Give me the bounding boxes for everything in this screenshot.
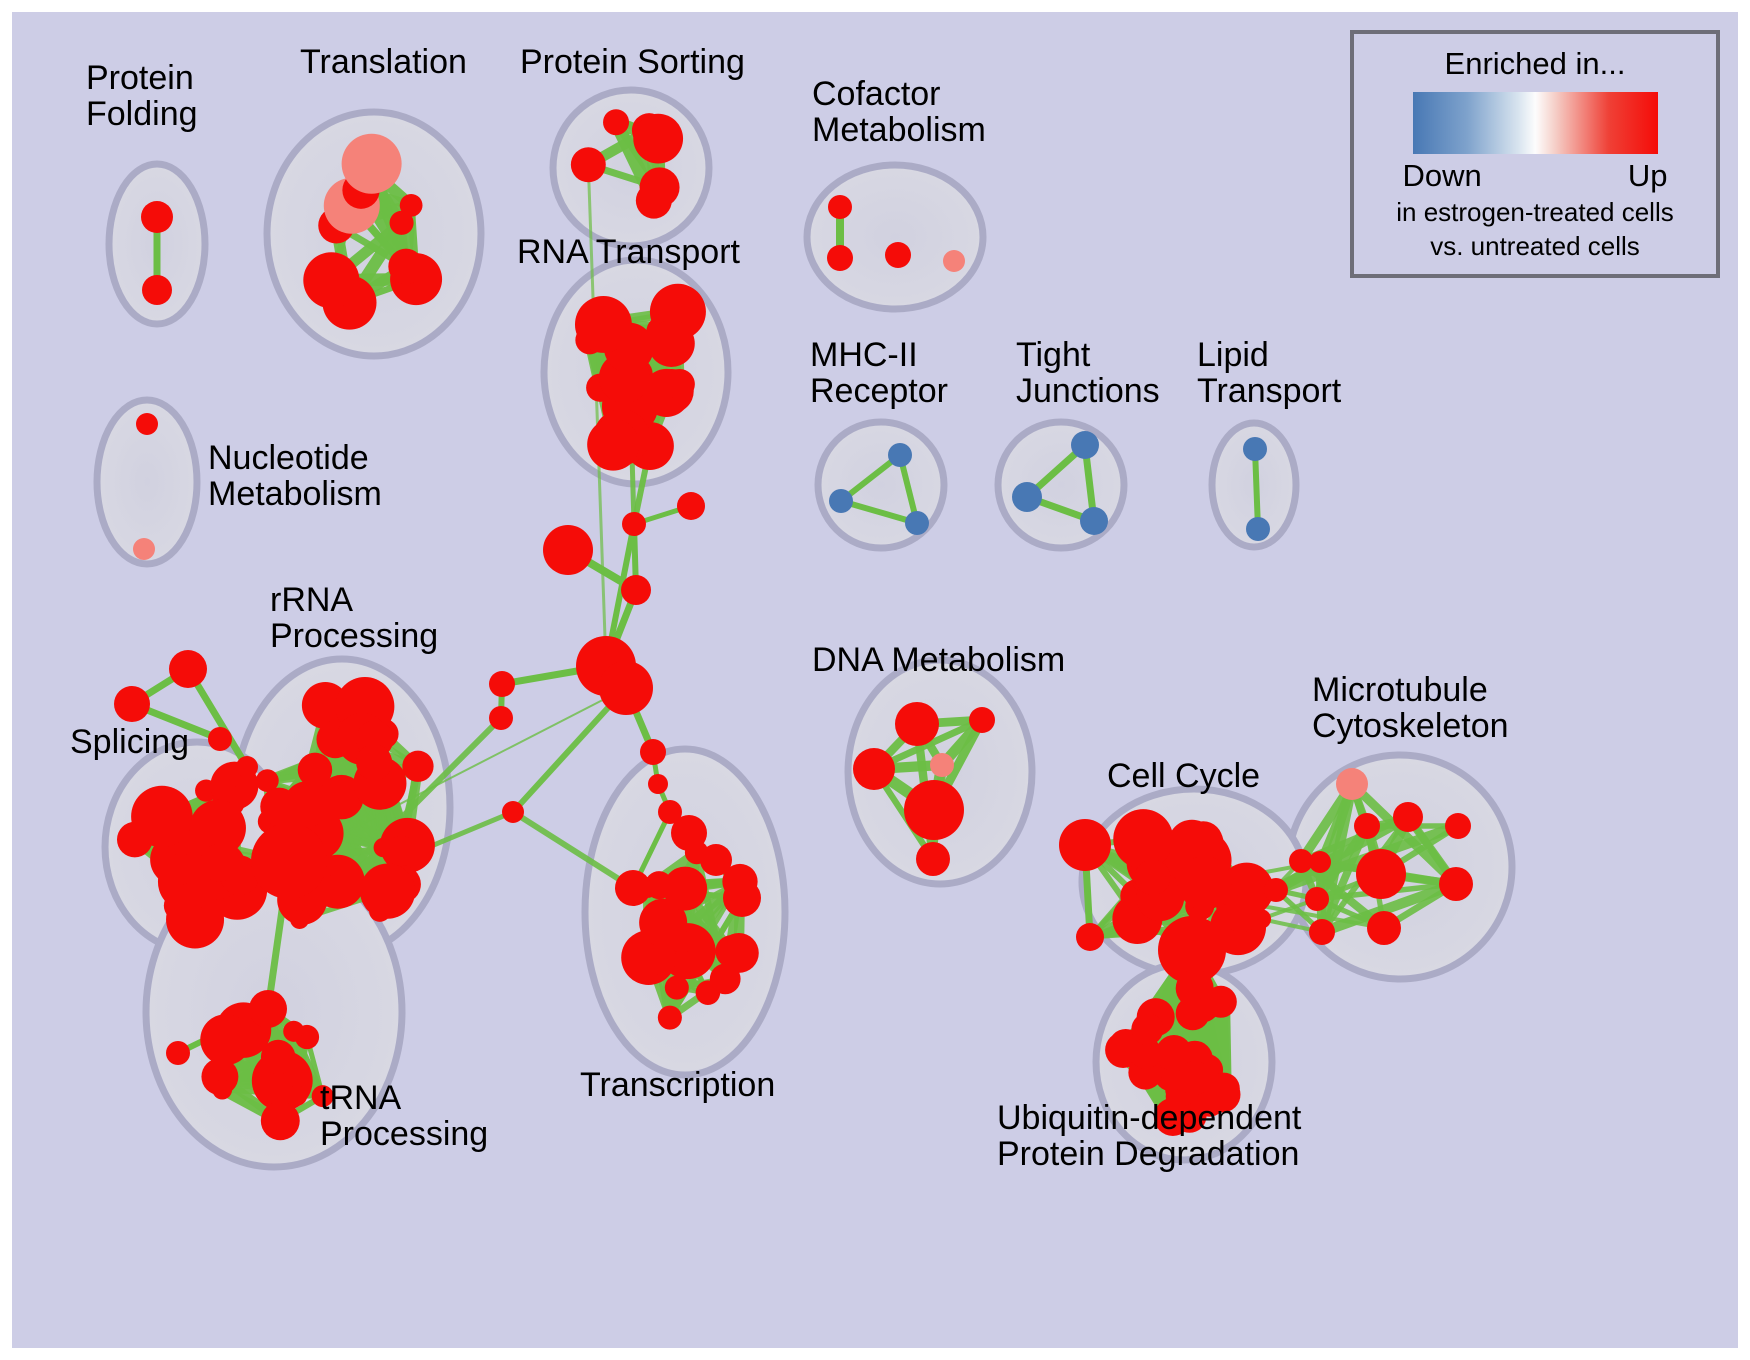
network-node[interactable] (664, 369, 695, 400)
network-node[interactable] (1217, 884, 1238, 905)
network-node[interactable] (723, 879, 761, 917)
cluster-label-protein-folding: Protein Folding (86, 60, 198, 132)
cluster-label-transcription: Transcription (580, 1067, 775, 1103)
network-node[interactable] (212, 1080, 232, 1100)
cluster-label-lipid-transport: Lipid Transport (1197, 337, 1341, 409)
network-node[interactable] (386, 836, 416, 866)
network-node[interactable] (885, 242, 911, 268)
cluster-label-translation: Translation (300, 44, 467, 80)
network-node[interactable] (169, 650, 207, 688)
cluster-label-splicing: Splicing (70, 724, 189, 760)
network-node[interactable] (388, 249, 423, 284)
network-node[interactable] (1080, 507, 1108, 535)
legend-box: Enriched in... Down Up in estrogen-treat… (1350, 30, 1720, 278)
network-node[interactable] (261, 1040, 295, 1074)
figure-root: Protein FoldingTranslationProtein Sortin… (0, 0, 1750, 1360)
cluster-label-nucleotide-metabolism: Nucleotide Metabolism (208, 440, 382, 512)
network-node[interactable] (648, 320, 695, 367)
network-node[interactable] (1393, 802, 1423, 832)
legend-up-label: Up (1628, 158, 1668, 194)
network-node[interactable] (342, 134, 402, 194)
cluster-label-rna-transport: RNA Transport (517, 234, 740, 270)
network-node[interactable] (1309, 919, 1335, 945)
network-node[interactable] (1131, 1013, 1163, 1045)
network-node[interactable] (1071, 431, 1099, 459)
network-node[interactable] (671, 815, 707, 851)
network-node[interactable] (303, 252, 359, 308)
network-node[interactable] (930, 753, 954, 777)
network-node[interactable] (1336, 768, 1368, 800)
network-node[interactable] (1012, 482, 1042, 512)
network-node[interactable] (290, 910, 309, 929)
network-edge (1255, 449, 1258, 529)
legend-color-bar (1413, 92, 1658, 154)
network-node[interactable] (1367, 911, 1401, 945)
network-node[interactable] (671, 931, 693, 953)
network-node[interactable] (895, 702, 939, 746)
legend-title: Enriched in... (1354, 46, 1716, 82)
network-node[interactable] (615, 870, 651, 906)
network-node[interactable] (827, 245, 853, 271)
cluster-label-mhc-ii-receptor: MHC-II Receptor (810, 337, 948, 409)
network-node[interactable] (943, 250, 965, 272)
network-node[interactable] (1289, 849, 1313, 873)
network-canvas: Protein FoldingTranslationProtein Sortin… (12, 12, 1738, 1348)
network-node[interactable] (261, 1101, 300, 1140)
cluster-label-microtubule: Microtubule Cytoskeleton (1312, 672, 1509, 744)
network-node[interactable] (636, 183, 672, 219)
network-node[interactable] (212, 778, 235, 801)
legend-subtitle-line2: vs. untreated cells (1354, 232, 1716, 262)
network-node[interactable] (603, 109, 629, 135)
cluster-ellipse-cofactor-metabolism (807, 165, 983, 309)
legend-subtitle-line1: in estrogen-treated cells (1354, 198, 1716, 228)
network-node[interactable] (587, 419, 639, 471)
network-node[interactable] (658, 1006, 682, 1030)
network-node[interactable] (651, 953, 674, 976)
cluster-label-protein-sorting: Protein Sorting (520, 44, 745, 80)
network-node[interactable] (1264, 878, 1288, 902)
network-node[interactable] (114, 686, 150, 722)
network-node[interactable] (1246, 517, 1270, 541)
network-node[interactable] (543, 525, 593, 575)
network-node[interactable] (571, 147, 606, 182)
network-node[interactable] (402, 751, 433, 782)
network-node[interactable] (236, 756, 258, 778)
network-node[interactable] (251, 823, 327, 899)
network-node[interactable] (208, 727, 232, 751)
network-node[interactable] (1135, 859, 1171, 895)
network-node[interactable] (136, 413, 158, 435)
network-node[interactable] (1177, 1061, 1211, 1095)
network-node[interactable] (489, 706, 513, 730)
legend-down-label: Down (1403, 158, 1482, 194)
network-node[interactable] (622, 512, 646, 536)
network-node[interactable] (853, 748, 895, 790)
network-node[interactable] (677, 492, 705, 520)
network-node[interactable] (1356, 849, 1406, 899)
network-node[interactable] (1176, 996, 1210, 1030)
network-node[interactable] (298, 753, 332, 787)
cluster-label-cell-cycle: Cell Cycle (1107, 758, 1260, 794)
network-node[interactable] (1305, 887, 1329, 911)
network-node[interactable] (131, 786, 193, 848)
network-node[interactable] (633, 114, 683, 164)
network-node[interactable] (166, 1041, 190, 1065)
network-node[interactable] (828, 195, 852, 219)
network-node[interactable] (648, 774, 668, 794)
network-node[interactable] (1354, 813, 1380, 839)
network-node[interactable] (287, 1085, 307, 1105)
network-node[interactable] (142, 275, 172, 305)
network-node[interactable] (141, 201, 173, 233)
network-node[interactable] (200, 1014, 251, 1065)
network-node[interactable] (1184, 821, 1223, 860)
network-node[interactable] (1113, 809, 1173, 869)
network-node[interactable] (640, 739, 666, 765)
network-node[interactable] (575, 296, 632, 353)
cluster-label-ubiquitin-degradation: Ubiquitin-dependent Protein Degradation (997, 1100, 1301, 1172)
network-node[interactable] (1076, 923, 1104, 951)
network-node[interactable] (905, 511, 929, 535)
network-node[interactable] (1445, 813, 1471, 839)
network-node[interactable] (1243, 437, 1267, 461)
network-node[interactable] (599, 661, 653, 715)
network-node[interactable] (356, 744, 392, 780)
network-node[interactable] (1059, 819, 1111, 871)
cluster-label-trna-processing: tRNA Processing (320, 1080, 488, 1152)
network-node[interactable] (133, 538, 155, 560)
network-node[interactable] (888, 443, 912, 467)
network-node[interactable] (400, 194, 423, 217)
cluster-label-dna-metabolism: DNA Metabolism (812, 642, 1065, 678)
network-node[interactable] (621, 575, 651, 605)
network-node[interactable] (295, 1025, 319, 1049)
network-node[interactable] (969, 707, 995, 733)
network-node[interactable] (360, 864, 415, 919)
cluster-label-tight-junctions: Tight Junctions (1016, 337, 1160, 409)
network-node[interactable] (200, 844, 238, 882)
network-node[interactable] (904, 780, 964, 840)
network-node[interactable] (489, 671, 515, 697)
network-node[interactable] (1439, 867, 1473, 901)
network-node[interactable] (829, 489, 853, 513)
network-node[interactable] (502, 801, 524, 823)
cluster-label-rrna-processing: rRNA Processing (270, 582, 438, 654)
network-node[interactable] (249, 990, 287, 1028)
network-node[interactable] (700, 844, 732, 876)
network-node[interactable] (710, 964, 741, 995)
network-node[interactable] (663, 867, 707, 911)
network-node[interactable] (916, 842, 950, 876)
cluster-label-cofactor-metabolism: Cofactor Metabolism (812, 76, 986, 148)
network-node[interactable] (665, 976, 689, 1000)
